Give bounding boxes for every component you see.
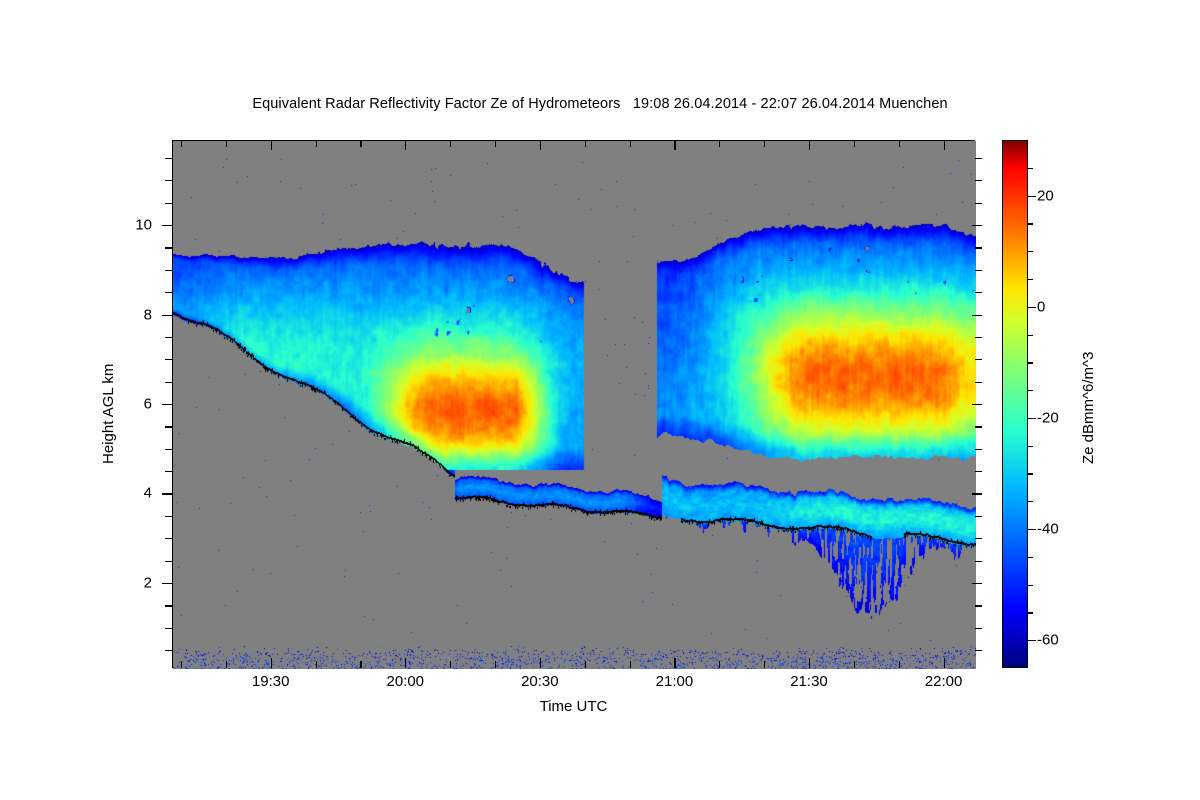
y-tick <box>975 538 982 539</box>
colorbar-title: Ze dBmm^6/m^3 <box>1080 352 1097 464</box>
x-tick <box>271 140 272 150</box>
colorbar-tick <box>1028 279 1033 280</box>
y-tick <box>975 426 982 427</box>
y-tick <box>165 359 172 360</box>
y-tick-label: 4 <box>112 485 152 502</box>
y-tick <box>972 583 982 584</box>
y-tick <box>165 292 172 293</box>
colorbar-tick-label: 20 <box>1037 187 1054 204</box>
x-tick <box>585 140 586 147</box>
colorbar-tick <box>1028 418 1036 419</box>
x-tick <box>450 140 451 147</box>
x-tick <box>899 140 900 147</box>
x-tick <box>674 140 675 150</box>
x-tick <box>630 661 631 668</box>
x-tick-label: 19:30 <box>226 673 316 690</box>
colorbar <box>1002 140 1028 668</box>
y-tick <box>975 605 982 606</box>
colorbar-tick <box>1028 196 1036 197</box>
y-tick <box>165 247 172 248</box>
y-tick <box>165 180 172 181</box>
y-tick <box>975 270 982 271</box>
x-tick-label: 21:00 <box>629 673 719 690</box>
y-tick <box>975 292 982 293</box>
y-tick <box>975 359 982 360</box>
y-tick <box>972 315 982 316</box>
y-tick <box>165 516 172 517</box>
colorbar-tick <box>1028 473 1033 474</box>
colorbar-tick-label: -40 <box>1037 521 1059 538</box>
x-tick <box>226 140 227 147</box>
colorbar-tick <box>1028 251 1033 252</box>
x-tick-label: 20:00 <box>360 673 450 690</box>
y-tick <box>162 404 172 405</box>
y-tick <box>165 270 172 271</box>
colorbar-tick-label: -60 <box>1037 632 1059 649</box>
y-tick <box>162 583 172 584</box>
x-tick <box>360 140 361 147</box>
y-tick <box>162 493 172 494</box>
x-tick <box>405 140 406 150</box>
y-tick <box>975 337 982 338</box>
x-tick <box>944 658 945 668</box>
x-tick <box>316 661 317 668</box>
y-tick <box>975 516 982 517</box>
x-tick-label: 22:00 <box>899 673 989 690</box>
y-tick-label: 2 <box>112 574 152 591</box>
y-tick <box>165 561 172 562</box>
x-tick <box>630 140 631 147</box>
figure-root: Equivalent Radar Reflectivity Factor Ze … <box>0 0 1200 800</box>
x-tick <box>540 140 541 150</box>
y-tick-label: 10 <box>112 217 152 234</box>
x-tick <box>316 140 317 147</box>
x-tick <box>495 661 496 668</box>
x-tick <box>719 661 720 668</box>
x-tick <box>181 661 182 668</box>
y-tick <box>975 180 982 181</box>
y-tick <box>972 493 982 494</box>
y-tick <box>162 315 172 316</box>
y-tick <box>972 404 982 405</box>
x-tick-label: 20:30 <box>495 673 585 690</box>
y-tick <box>165 426 172 427</box>
y-tick <box>975 247 982 248</box>
x-tick-label: 21:30 <box>764 673 854 690</box>
x-tick <box>674 658 675 668</box>
x-tick <box>226 661 227 668</box>
colorbar-tick <box>1028 362 1033 363</box>
y-tick-label: 6 <box>112 396 152 413</box>
y-tick <box>165 471 172 472</box>
y-tick <box>975 382 982 383</box>
colorbar-tick-label: 0 <box>1037 298 1045 315</box>
colorbar-tick <box>1028 168 1033 169</box>
x-tick <box>271 658 272 668</box>
x-tick <box>181 140 182 147</box>
y-tick <box>975 561 982 562</box>
y-tick <box>165 605 172 606</box>
y-tick <box>975 628 982 629</box>
y-tick <box>975 471 982 472</box>
y-tick <box>165 337 172 338</box>
x-tick <box>360 661 361 668</box>
colorbar-tick-label: -20 <box>1037 409 1059 426</box>
figure-title: Equivalent Radar Reflectivity Factor Ze … <box>0 96 1200 112</box>
y-axis-title: Height AGL km <box>100 364 117 464</box>
x-tick <box>899 661 900 668</box>
colorbar-tick <box>1028 390 1033 391</box>
y-tick <box>975 158 982 159</box>
x-tick <box>764 661 765 668</box>
x-tick <box>944 140 945 150</box>
x-tick <box>854 661 855 668</box>
colorbar-tick <box>1028 335 1033 336</box>
radar-plot-area <box>172 140 975 668</box>
x-tick <box>585 661 586 668</box>
y-tick <box>165 382 172 383</box>
y-tick-label: 8 <box>112 306 152 323</box>
colorbar-tick <box>1028 446 1033 447</box>
x-tick <box>854 140 855 147</box>
y-tick <box>165 158 172 159</box>
colorbar-tick <box>1028 612 1033 613</box>
y-tick <box>165 538 172 539</box>
colorbar-tick <box>1028 557 1033 558</box>
y-tick <box>165 203 172 204</box>
x-tick <box>809 658 810 668</box>
x-tick <box>405 658 406 668</box>
x-axis-title: Time UTC <box>172 698 975 715</box>
x-tick <box>450 661 451 668</box>
y-tick <box>975 449 982 450</box>
y-tick <box>165 449 172 450</box>
y-tick <box>162 225 172 226</box>
y-tick <box>975 203 982 204</box>
y-tick <box>165 650 172 651</box>
x-tick <box>719 140 720 147</box>
colorbar-tick <box>1028 501 1033 502</box>
y-tick <box>165 628 172 629</box>
colorbar-tick <box>1028 529 1036 530</box>
x-tick <box>809 140 810 150</box>
colorbar-tick <box>1028 585 1033 586</box>
colorbar-gradient <box>1003 141 1027 667</box>
y-tick <box>972 225 982 226</box>
colorbar-tick <box>1028 307 1036 308</box>
y-tick <box>975 650 982 651</box>
colorbar-tick <box>1028 223 1033 224</box>
x-tick <box>764 140 765 147</box>
x-tick <box>540 658 541 668</box>
radar-reflectivity-heatmap <box>173 141 976 669</box>
colorbar-tick <box>1028 640 1036 641</box>
x-tick <box>495 140 496 147</box>
